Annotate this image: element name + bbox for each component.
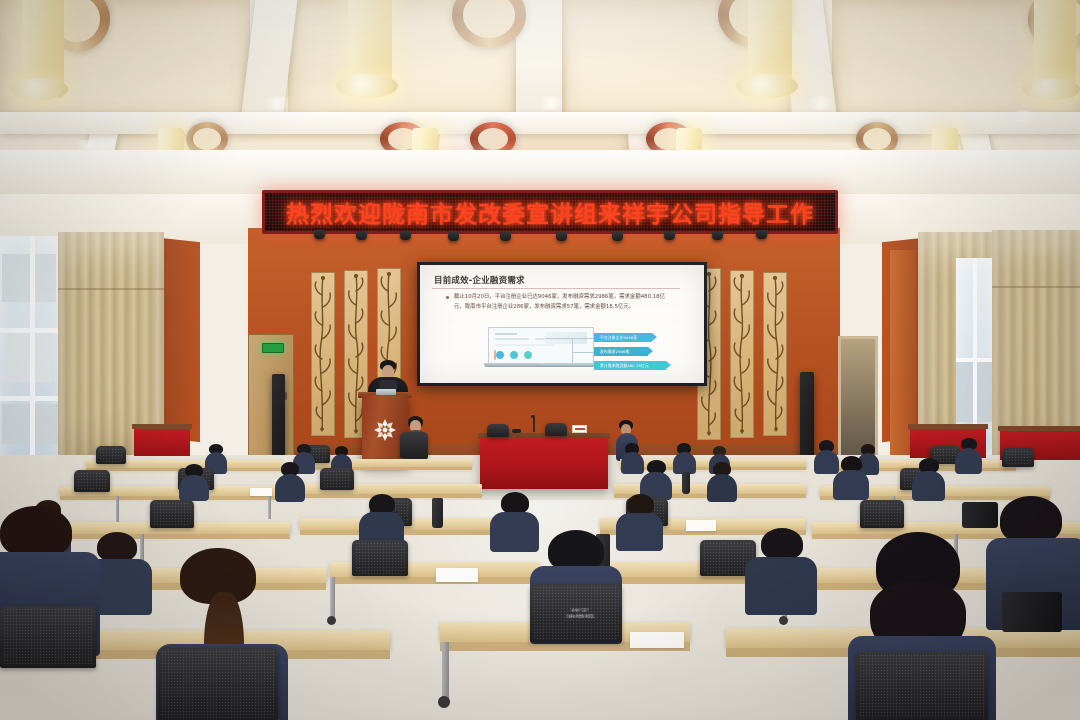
- slide-bullet-marker: [446, 296, 449, 299]
- slide-callout-1: 发布需求2986笔: [594, 347, 648, 356]
- slide-callout-2: 累计需求融资额480.18亿元: [594, 361, 666, 370]
- conference-room-photo: 热烈欢迎陇南市发改委宣讲组来祥宇公司指导工作 目前成效-企业融资需求 截止10月…: [0, 0, 1080, 720]
- emergency-exit-sign: [262, 343, 284, 353]
- right-speaker-tower: [800, 372, 814, 460]
- left-side-table: [134, 428, 190, 456]
- red-cloth-head-table: [480, 437, 608, 489]
- led-welcome-banner: 热烈欢迎陇南市发改委宣讲组来祥宇公司指导工作: [262, 190, 838, 234]
- left-wooden-door[interactable]: [248, 334, 294, 462]
- projection-screen[interactable]: 目前成效-企业融资需求 截止10月20日，平台注册企业已达9046家，发布融资需…: [417, 262, 707, 386]
- slide-body-text: 截止10月20日，平台注册企业已达9046家，发布融资需求2986笔，需求金额4…: [454, 292, 670, 312]
- presentation-slide: 目前成效-企业融资需求 截止10月20日，平台注册企业已达9046家，发布融资需…: [420, 265, 704, 383]
- laptop-screen: [488, 327, 594, 365]
- floor-watermark-overlay: 祥宇 油橄榄: [423, 608, 738, 677]
- slide-callout-0: 平台注册企业9046家: [594, 333, 652, 342]
- podium-emblem-logo: [373, 418, 397, 442]
- left-window: [0, 236, 62, 468]
- led-banner-text: 热烈欢迎陇南市发改委宣讲组来祥宇公司指导工作: [286, 195, 814, 229]
- slide-title-rule: [432, 288, 680, 289]
- slide-title: 目前成效-企业融资需求: [434, 274, 525, 286]
- left-speaker-tower: [272, 374, 285, 460]
